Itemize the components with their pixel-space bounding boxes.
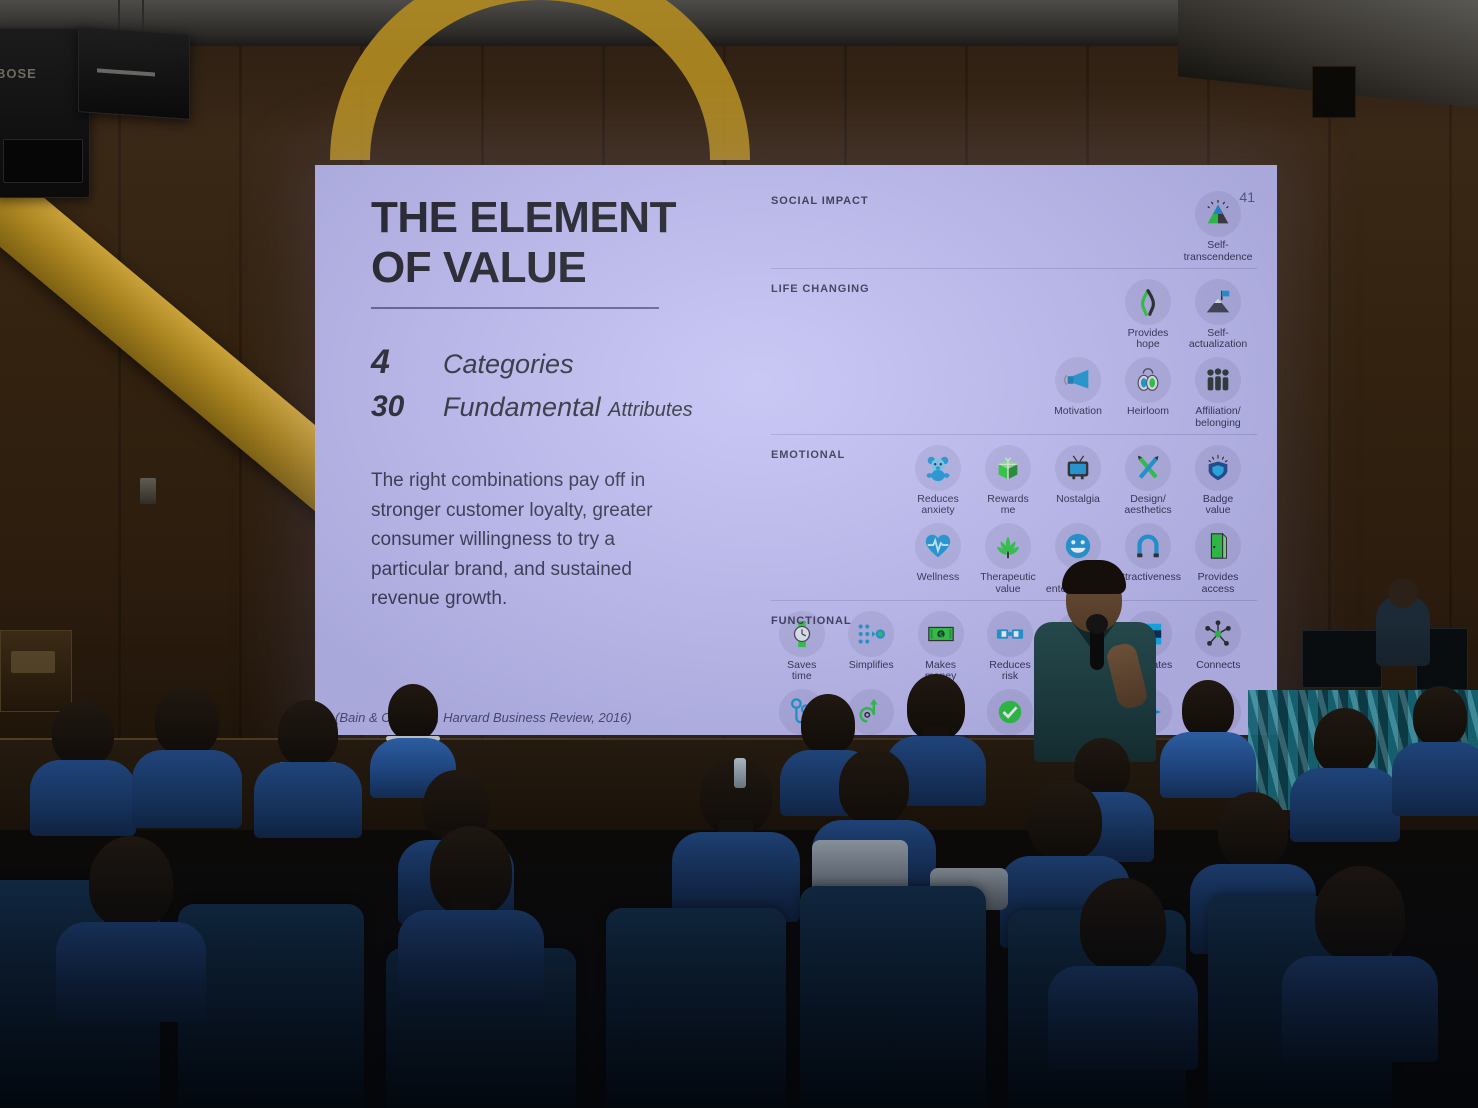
tier-label-emotional: EMOTIONAL — [771, 449, 845, 461]
ceiling-speaker-left — [0, 28, 90, 198]
tier-divider-1 — [771, 268, 1257, 269]
value-item-heirloom: Heirloom — [1117, 357, 1179, 430]
value-item-badge-value: Badge value — [1187, 445, 1249, 518]
caption-heirloom: Heirloom — [1127, 406, 1169, 418]
caption-design-aesthetics: Design/ aesthetics — [1124, 494, 1171, 518]
value-item-self-transcendence: Self- transcendence — [1187, 191, 1249, 264]
head — [1413, 686, 1467, 746]
torso — [398, 910, 544, 1010]
tier-divider-3 — [771, 600, 1257, 601]
svg-text:$: $ — [938, 630, 943, 639]
stat-attributes-label-sub: Attributes — [608, 399, 692, 421]
caption-rewards-me: Rewards me — [987, 494, 1028, 518]
caption-motivation: Motivation — [1054, 406, 1102, 418]
caption-reduces-anxiety: Reduces anxiety — [917, 494, 958, 518]
pen-pencil-icon — [1125, 445, 1171, 491]
leaf-icon — [985, 523, 1031, 569]
value-item-reduces-anxiety: Reduces anxiety — [907, 445, 969, 518]
stat-attributes: 30 Fundamental Attributes — [371, 390, 741, 424]
caption-self-actualization: Self- actualization — [1189, 328, 1247, 352]
network-node-icon — [1195, 611, 1241, 657]
heart-pulse-icon — [915, 523, 961, 569]
caption-affiliation-belonging: Affiliation/ belonging — [1195, 406, 1241, 430]
ceiling-speaker-right — [78, 26, 190, 120]
tier-divider-2 — [771, 434, 1257, 435]
audience-member — [398, 826, 544, 1006]
slide-body-text: The right combinations pay off in strong… — [371, 466, 671, 613]
megaphone-icon — [1055, 357, 1101, 403]
value-item-design-aesthetics: Design/ aesthetics — [1117, 445, 1179, 518]
slide-left-column: THE ELEMENT OF VALUE 4 Categories 30 Fun… — [371, 193, 741, 614]
tier-life-changing: LIFE CHANGING Provides hope Self- actual… — [771, 279, 1257, 445]
tier-social-impact: SOCIAL IMPACT Self- transcendence — [771, 191, 1257, 279]
simplify-dots-icon — [848, 611, 894, 657]
torso — [132, 750, 242, 828]
gift-box-icon — [985, 445, 1031, 491]
tier-emotional-row-2: Wellness Therapeutic value Fun/ entertai… — [771, 523, 1257, 596]
head — [1080, 878, 1166, 972]
caption-provides-hope: Provides hope — [1128, 328, 1169, 352]
head — [839, 748, 909, 824]
head — [52, 700, 114, 766]
value-item-nostalgia: Nostalgia — [1047, 445, 1109, 518]
caption-badge-value: Badge value — [1203, 494, 1233, 518]
head — [278, 700, 338, 766]
value-item-provides-hope: Provides hope — [1117, 279, 1179, 352]
ribbon-icon — [1125, 279, 1171, 325]
audience-member — [132, 686, 242, 826]
tier-label-functional: FUNCTIONAL — [771, 615, 852, 627]
head — [89, 836, 173, 928]
stat-categories: 4 Categories — [371, 343, 741, 382]
stat-attributes-number: 30 — [371, 390, 427, 424]
head — [388, 684, 438, 740]
elements-of-value-pyramid: SOCIAL IMPACT Self- transcendence LIFE C… — [771, 191, 1257, 735]
audience-member — [1048, 878, 1198, 1064]
locket-icon — [1125, 357, 1171, 403]
audience-member — [1282, 866, 1438, 1056]
value-item-provides-access: Provides access — [1187, 523, 1249, 596]
torso — [1392, 742, 1478, 816]
tier-label-social-impact: SOCIAL IMPACT — [771, 195, 868, 207]
tier-emotional: EMOTIONAL Reduces anxiety Rewards me — [771, 445, 1257, 611]
head — [801, 694, 855, 754]
water-bottle — [734, 758, 746, 788]
tier-label-life-changing: LIFE CHANGING — [771, 283, 869, 295]
badge-shield-icon — [1195, 445, 1241, 491]
torso — [56, 922, 206, 1022]
seat — [800, 886, 986, 1108]
caption-wellness: Wellness — [917, 572, 959, 584]
value-item-motivation: Motivation — [1047, 357, 1109, 430]
arch-apex-beam — [330, 0, 750, 160]
audience-member — [1392, 686, 1478, 816]
caption-self-transcendence: Self- transcendence — [1184, 240, 1253, 264]
stat-categories-number: 4 — [371, 343, 427, 382]
value-item-rewards-me: Rewards me — [977, 445, 1039, 518]
torso — [1282, 956, 1438, 1062]
speaker-brand-label: BOSE — [0, 66, 66, 81]
head — [1218, 792, 1288, 868]
head — [1315, 866, 1405, 962]
torso — [254, 762, 362, 838]
stat-categories-label: Categories — [443, 349, 574, 380]
wall-light-fixture — [140, 478, 156, 504]
title-line-1: THE ELEMENT — [371, 193, 741, 243]
head — [1182, 680, 1234, 738]
banknote-icon: $ — [918, 611, 964, 657]
torso — [1160, 732, 1256, 798]
technician — [1376, 596, 1430, 666]
presenter-hair — [1062, 560, 1126, 594]
television-icon — [1055, 445, 1101, 491]
head — [155, 686, 219, 756]
value-item-wellness: Wellness — [907, 523, 969, 596]
audience-member — [1160, 680, 1256, 800]
value-item-self-actualization: Self- actualization — [1187, 279, 1249, 352]
audience-member — [56, 836, 206, 1016]
caption-nostalgia: Nostalgia — [1056, 494, 1100, 506]
title-line-2: OF VALUE — [371, 243, 741, 293]
title-divider — [371, 307, 659, 309]
torso — [1048, 966, 1198, 1070]
audience-member — [254, 700, 362, 836]
torso — [30, 760, 136, 836]
audience-member — [30, 700, 136, 836]
seatbelt-icon — [987, 611, 1033, 657]
tier-life-changing-row-2: Motivation Heirloom Affiliation/ belongi… — [771, 357, 1257, 430]
door-icon — [1195, 523, 1241, 569]
page-title: THE ELEMENT OF VALUE — [371, 193, 741, 293]
people-group-icon — [1195, 357, 1241, 403]
summit-flag-icon — [1195, 279, 1241, 325]
stat-attributes-label: Fundamental Attributes — [443, 392, 693, 423]
stat-attributes-label-main: Fundamental — [443, 392, 608, 422]
audience — [0, 660, 1478, 1108]
caption-provides-access: Provides access — [1198, 572, 1239, 596]
value-item-affiliation-belonging: Affiliation/ belonging — [1187, 357, 1249, 430]
teddy-bear-icon — [915, 445, 961, 491]
magnet-icon — [1125, 523, 1171, 569]
seat — [606, 908, 786, 1108]
pyramid-icon — [1195, 191, 1241, 237]
head — [1028, 780, 1102, 860]
auditorium-scene: BOSE 41 THE ELEMENT OF VALUE 4 Categorie… — [0, 0, 1478, 1108]
wall-vent — [1312, 66, 1356, 118]
head — [1314, 708, 1376, 774]
